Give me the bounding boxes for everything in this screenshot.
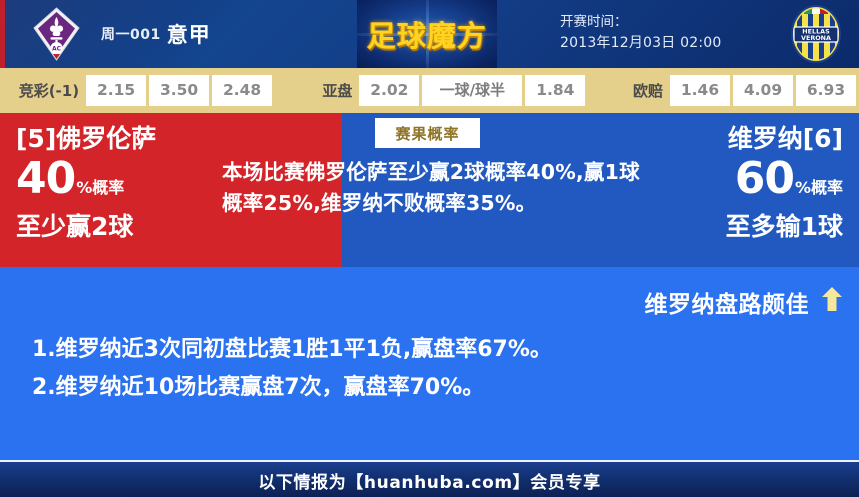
list-item: 2.维罗纳近10场比赛赢盘7次，赢盘率70%。 (32, 369, 832, 407)
handicap-title-row: 维罗纳盘路颇佳 (645, 285, 844, 319)
svg-text:VERONA: VERONA (801, 34, 831, 42)
footer-text: 以下情报为【huanhuba.com】会员专享 (258, 468, 600, 493)
fiorentina-crest: AC (29, 6, 84, 62)
odds-cell[interactable]: 3.50 (149, 75, 209, 106)
list-item: 1.维罗纳近3次同初盘比赛1胜1平1负,赢盘率67%。 (32, 331, 832, 369)
away-probability-value: 60 (735, 153, 794, 204)
odds-cell[interactable]: 1.84 (525, 75, 585, 106)
home-probability-suffix: %概率 (76, 178, 124, 197)
odds-cell[interactable]: 2.02 (359, 75, 419, 106)
handicap-list: 1.维罗纳近3次同初盘比赛1胜1平1负,赢盘率67%。 2.维罗纳近10场比赛赢… (32, 331, 832, 407)
league-name: 意甲 (167, 19, 211, 49)
home-probability: 40%概率 (16, 156, 230, 211)
home-outcome-detail: 至少赢2球 (16, 211, 230, 243)
handicap-section: 维罗纳盘路颇佳 1.维罗纳近3次同初盘比赛1胜1平1负,赢盘率67%。 2.维罗… (0, 267, 859, 460)
header-left: AC 周一001 意甲 (6, 0, 361, 68)
odds-cell[interactable]: 6.93 (796, 75, 856, 106)
hellas-verona-crest: HELLAS VERONA (790, 5, 842, 63)
kickoff-value: 2013年12月03日 02:00 (560, 33, 775, 54)
arrow-up-icon (821, 286, 843, 318)
away-team-name: 维罗纳[6] (627, 113, 843, 156)
round-label: 周一001 (101, 24, 161, 44)
kickoff-label: 开赛时间： (560, 12, 775, 33)
home-probability-value: 40 (16, 153, 75, 204)
home-team-block: [5]佛罗伦萨 40%概率 至少赢2球 (0, 113, 230, 267)
away-probability-suffix: %概率 (795, 178, 843, 197)
footer-bar: 以下情报为【huanhuba.com】会员专享 (0, 460, 859, 497)
odds-group-yapan: 亚盘 2.02 一球/球半 1.84 (315, 75, 588, 106)
away-outcome-detail: 至多输1球 (627, 211, 843, 243)
away-team-block: 维罗纳[6] 60%概率 至多输1球 (627, 113, 859, 267)
infographic-page: AC 周一001 意甲 足球魔方 开赛时间： 2013年12月03日 02:00 (0, 0, 859, 497)
site-logo-text: 足球魔方 (357, 0, 497, 68)
probability-summary: 本场比赛佛罗伦萨至少赢2球概率40%,赢1球概率25%,维罗纳不败概率35%。 (222, 157, 642, 219)
match-meta: 周一001 意甲 (101, 0, 211, 68)
kickoff-block: 开赛时间： 2013年12月03日 02:00 (560, 12, 775, 54)
odds-cell[interactable]: 1.46 (670, 75, 730, 106)
odds-group-label: 欧赔 (626, 80, 670, 101)
odds-cell[interactable]: 2.48 (212, 75, 272, 106)
handicap-title: 维罗纳盘路颇佳 (645, 285, 810, 319)
odds-group-jingcai: 竞彩(-1) 2.15 3.50 2.48 (12, 75, 275, 106)
header-accent-bar (0, 0, 5, 68)
site-logo[interactable]: 足球魔方 (357, 0, 497, 68)
odds-group-label: 亚盘 (315, 80, 359, 101)
odds-cell-handicap[interactable]: 一球/球半 (422, 75, 522, 106)
odds-group-oupei: 欧赔 1.46 4.09 6.93 (626, 75, 859, 106)
odds-cell[interactable]: 4.09 (733, 75, 793, 106)
odds-bar: 竞彩(-1) 2.15 3.50 2.48 亚盘 2.02 一球/球半 1.84… (0, 68, 859, 113)
home-team-name: [5]佛罗伦萨 (16, 113, 230, 156)
svg-text:AC: AC (52, 46, 62, 53)
odds-cell[interactable]: 2.15 (86, 75, 146, 106)
section-tab-result-probability[interactable]: 赛果概率 (375, 118, 480, 148)
match-header: AC 周一001 意甲 足球魔方 开赛时间： 2013年12月03日 02:00 (0, 0, 859, 68)
away-probability: 60%概率 (627, 156, 843, 211)
odds-group-label: 竞彩(-1) (12, 80, 86, 101)
